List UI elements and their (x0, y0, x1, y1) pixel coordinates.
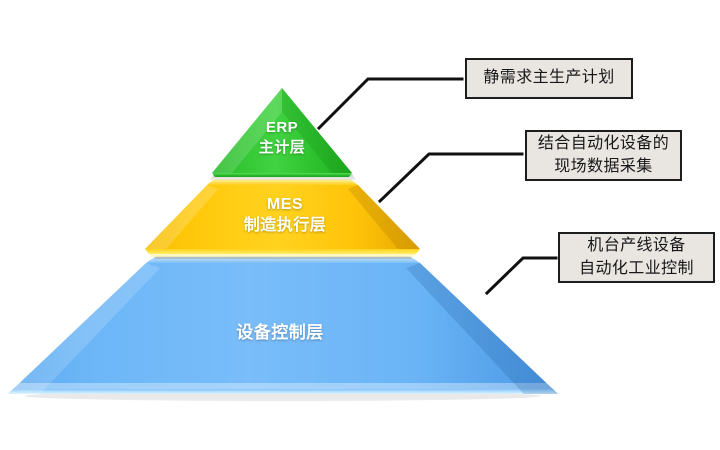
callout-box-equipment-control[interactable]: 机台产线设备 自动化工业控制 (558, 232, 715, 283)
pyramid-layer-equipment-control[interactable] (8, 256, 558, 401)
pyramid-layer-mes[interactable] (145, 179, 420, 257)
connector-line-mes (380, 154, 522, 201)
callout-box-mes[interactable]: 结合自动化设备的 现场数据采集 (525, 130, 682, 181)
callout-text-erp: 静需求主生产计划 (483, 67, 614, 90)
pyramid-diagram: ERP 主计层 MES 制造执行层 设备控制层 静需求主生产计划 结合自动化设备… (0, 0, 720, 450)
callout-text-equipment-control: 机台产线设备 自动化工业控制 (579, 235, 694, 280)
connector-line-erp (319, 79, 462, 128)
callout-box-erp[interactable]: 静需求主生产计划 (465, 58, 633, 99)
pyramid-layer-erp[interactable] (210, 88, 356, 180)
callout-text-mes: 结合自动化设备的 现场数据采集 (538, 133, 669, 178)
connector-line-equipment (487, 258, 556, 293)
